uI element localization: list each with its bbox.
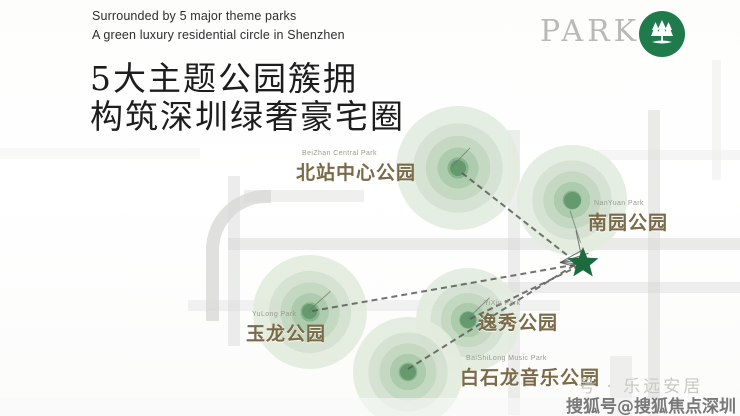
park-label-en-baishilong: BaiShiLong Music Park	[466, 355, 600, 362]
subtitle-line-1: Surrounded by 5 major theme parks	[92, 9, 296, 23]
subtitle-line-2: A green luxury residential circle in She…	[92, 28, 345, 42]
brand-wordmark: PARK	[540, 14, 640, 49]
headline-line-2: 构筑深圳绿奢豪宅圈	[90, 90, 405, 138]
promo-map-poster: BeiZhan Central Park 北站中心公园 NanYuan Park…	[0, 0, 740, 416]
watermark-primary: 搜狐号@搜狐焦点深圳	[566, 392, 736, 416]
park-label-yulong-park: YuLong Park 玉龙公园	[246, 311, 326, 346]
pine-trees-icon	[639, 11, 685, 57]
park-label-yixiu-park: YiXiu Park 逸秀公园	[478, 300, 558, 335]
park-core-nanyuan-park	[564, 192, 581, 209]
park-label-cn-nanyuan: 南园公园	[588, 208, 668, 235]
park-label-cn-beizhan: 北站中心公园	[296, 158, 416, 185]
road-horizontal-bend-arm	[244, 190, 364, 202]
road-vertical-right	[648, 110, 660, 416]
park-label-cn-yulong: 玉龙公园	[246, 319, 326, 346]
park-label-cn-yixiu: 逸秀公园	[478, 308, 558, 335]
park-label-en-beizhan: BeiZhan Central Park	[302, 150, 416, 157]
road-horizontal-top	[0, 148, 200, 159]
road-horizontal-mid	[228, 238, 740, 250]
park-label-en-yulong: YuLong Park	[252, 311, 326, 318]
brand-logo: PARK	[540, 8, 690, 60]
park-label-en-yixiu: YiXiu Park	[484, 300, 558, 307]
park-label-en-nanyuan: NanYuan Park	[594, 200, 668, 207]
park-label-beizhan-central-park: BeiZhan Central Park 北站中心公园	[296, 150, 416, 185]
park-label-nanyuan-park: NanYuan Park 南园公园	[588, 200, 668, 235]
